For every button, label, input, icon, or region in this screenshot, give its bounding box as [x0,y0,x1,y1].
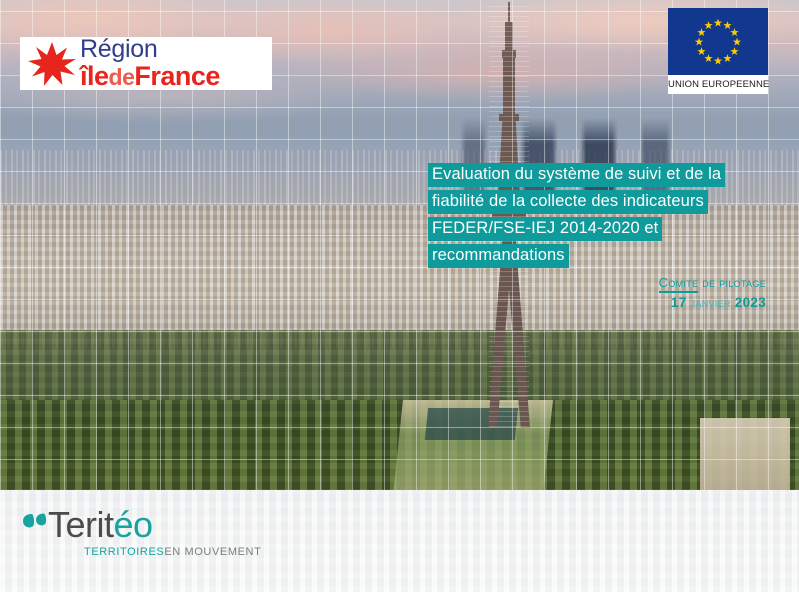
title-line-2: fiabilité de la collecte des indicateurs [428,190,708,214]
teriteo-tagline-accent: TERRITOIRES [84,546,164,558]
eu-flag-icon [668,8,768,75]
teriteo-logo: Teritéo TERRITOIRESEN MOUVEMENT [22,505,252,567]
slide-meta: Comite de pilotage 17 janvier 2023 [659,275,766,312]
region-idf-logo: Région îledeFrance [20,37,272,90]
teriteo-quote-icon [22,513,48,529]
teriteo-word-accent: éo [114,504,153,545]
region-star-icon [26,40,78,88]
event-name-rest: de pilotage [698,275,766,290]
slide-title: Evaluation du système de suivi et de la … [428,163,788,271]
eu-label: UNION EUROPEENNE [668,75,768,94]
region-ile: île [80,61,109,91]
teriteo-wordmark: Teritéo [48,505,153,545]
region-line1: Région [80,37,220,62]
event-name: Comite de pilotage [659,275,766,291]
title-line-3: FEDER/FSE-IEJ 2014-2020 et [428,217,662,241]
presentation-slide: Région îledeFrance [0,0,799,592]
title-line-1: Evaluation du système de suivi et de la [428,163,725,187]
event-name-underlined: Comite [659,275,699,293]
title-line-4: recommandations [428,244,569,268]
teriteo-tagline: TERRITOIRESEN MOUVEMENT [84,546,261,558]
event-date: 17 janvier 2023 [659,295,766,312]
teriteo-word-dark: Terit [48,504,114,545]
teriteo-tagline-rest: EN MOUVEMENT [164,546,261,558]
title-lines: Evaluation du système de suivi et de la … [428,163,788,271]
event-date-year: 2023 [735,295,766,310]
event-date-month: janvier [691,295,731,310]
event-date-day: 17 [671,295,687,310]
region-wordmark: Région îledeFrance [80,37,220,90]
european-union-logo: UNION EUROPEENNE [668,8,768,96]
region-de: de [109,64,135,90]
region-line2: îledeFrance [80,63,220,90]
region-france: France [134,61,220,91]
